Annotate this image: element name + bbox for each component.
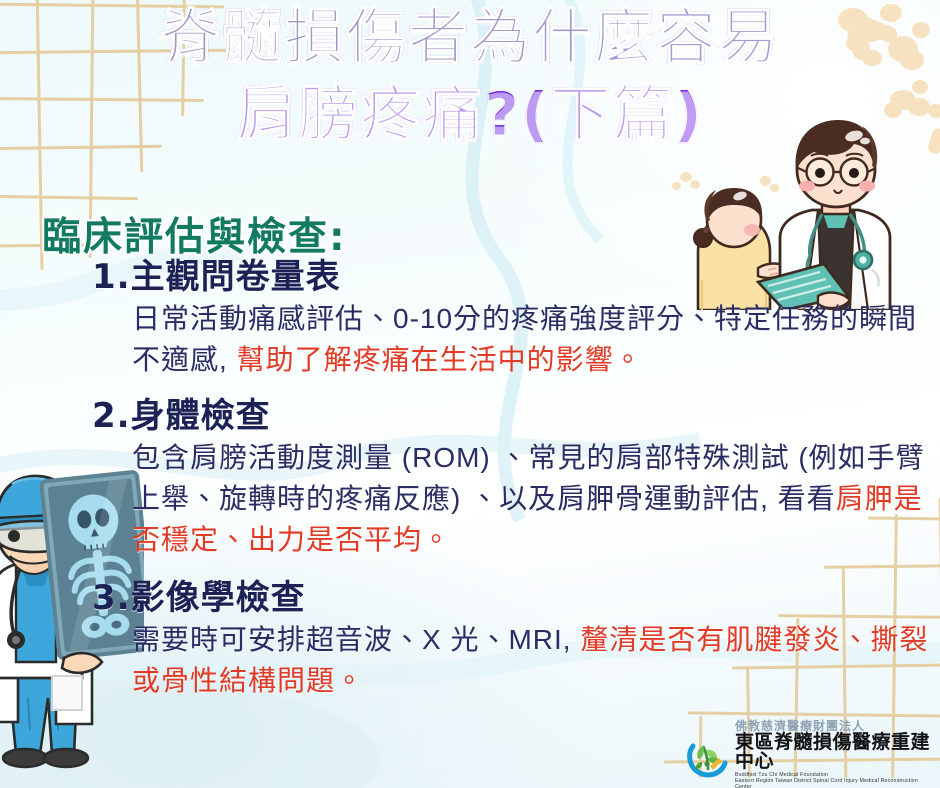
list-item: 3.影像學檢查 需要時可安排超音波、X 光、MRI, 釐清是否有肌腱發炎、撕裂或…: [0, 579, 940, 702]
tzu-chi-lotus-icon: [686, 732, 732, 778]
item-body-3: 需要時可安排超音波、X 光、MRI, 釐清是否有肌腱發炎、撕裂或骨性結構問題。: [132, 620, 932, 702]
section-heading: 臨床評估與檢查:: [42, 206, 347, 262]
item-body-1-highlight: 幫助了解疼痛在生活中的影響。: [237, 344, 643, 375]
item-body-3-normal: 需要時可安排超音波、X 光、MRI,: [132, 624, 580, 655]
content-list: 1.主觀問卷量表 日常活動痛感評估、0-10分的疼痛強度評分、特定任務的瞬間不適…: [0, 258, 940, 701]
logo-main-line: 東區脊髓損傷醫療重建中心: [735, 733, 934, 771]
organization-logo: 佛教慈濟醫療財團法人 東區脊髓損傷醫療重建中心 Buddhist Tzu Chi…: [686, 728, 934, 782]
logo-text-block: 佛教慈濟醫療財團法人 東區脊髓損傷醫療重建中心 Buddhist Tzu Chi…: [735, 720, 934, 788]
logo-english-line-2: Eastern Region Taiwan District Spinal Co…: [735, 779, 934, 788]
list-item: 1.主觀問卷量表 日常活動痛感評估、0-10分的疼痛強度評分、特定任務的瞬間不適…: [0, 258, 940, 381]
item-body-2: 包含肩膀活動度測量 (ROM) 、常見的肩部特殊測試 (例如手臂上舉、旋轉時的疼…: [132, 438, 932, 561]
item-title-3: 3.影像學檢查: [92, 579, 940, 618]
poster-root: 脊髓損傷者為什麼容易 肩膀疼痛?(下篇): [0, 0, 940, 788]
list-item: 2.身體檢查 包含肩膀活動度測量 (ROM) 、常見的肩部特殊測試 (例如手臂上…: [0, 397, 940, 561]
item-title-1: 1.主觀問卷量表: [92, 258, 940, 297]
item-title-2: 2.身體檢查: [92, 397, 940, 436]
item-body-2-normal: 包含肩膀活動度測量 (ROM) 、常見的肩部特殊測試 (例如手臂上舉、旋轉時的疼…: [132, 442, 925, 514]
item-body-1: 日常活動痛感評估、0-10分的疼痛強度評分、特定任務的瞬間不適感, 幫助了解疼痛…: [132, 299, 932, 381]
